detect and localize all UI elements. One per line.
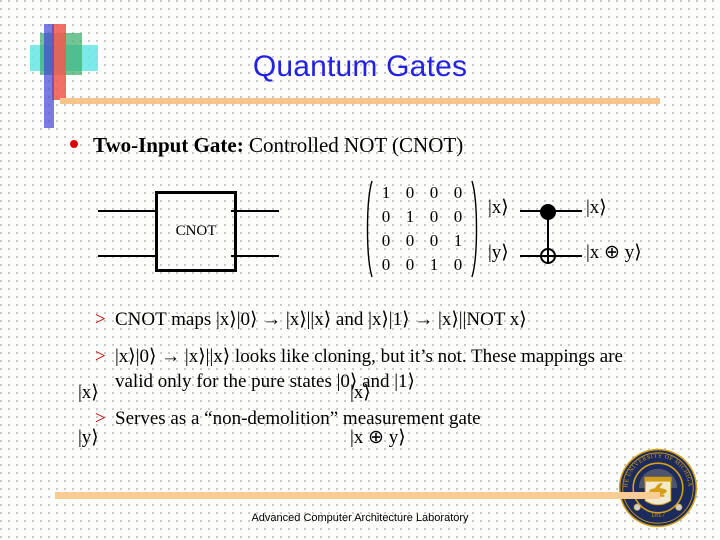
sub-bullet-list: >CNOT maps |x⟩|0⟩ → |x⟩||x⟩ and |x⟩|1⟩ →… bbox=[95, 308, 655, 444]
cnot-symbol-figure: |x⟩ |y⟩ |x⟩ |x ⊕ y⟩ bbox=[480, 179, 660, 285]
sub-bullet-item: >|x⟩|0⟩ → |x⟩||x⟩ looks like cloning, bu… bbox=[95, 345, 655, 394]
matrix-cell: 1 bbox=[454, 231, 463, 251]
symbol-input-bottom-label: |y⟩ bbox=[488, 241, 509, 264]
matrix-cell: 0 bbox=[382, 255, 391, 275]
slide-canvas: Quantum Gates Two-Input Gate: Controlled… bbox=[0, 0, 720, 540]
matrix-left-paren-icon bbox=[363, 179, 373, 279]
control-dot-icon bbox=[540, 204, 556, 220]
symbol-output-top-label: |x⟩ bbox=[586, 196, 607, 219]
matrix-cell: 0 bbox=[454, 207, 463, 227]
symbol-input-top-label: |x⟩ bbox=[488, 196, 509, 219]
wire-output-top bbox=[231, 210, 279, 212]
matrix-cell: 1 bbox=[382, 183, 391, 203]
symbol-output-bottom-label: |x ⊕ y⟩ bbox=[586, 241, 642, 264]
sub-bullet-item: >CNOT maps |x⟩|0⟩ → |x⟩||x⟩ and |x⟩|1⟩ →… bbox=[95, 308, 655, 332]
sub-bullet-marker-icon: > bbox=[95, 345, 115, 394]
wire-input-top bbox=[98, 210, 156, 212]
matrix-cell: 0 bbox=[406, 183, 415, 203]
sub-bullet-marker-icon: > bbox=[95, 407, 115, 431]
footer-divider-rule bbox=[55, 492, 660, 499]
matrix-cell: 0 bbox=[430, 207, 439, 227]
matrix-cell: 0 bbox=[406, 255, 415, 275]
matrix-cell: 0 bbox=[430, 183, 439, 203]
sub-bullet-item: >Serves as a “non-demolition” measuremen… bbox=[95, 407, 655, 431]
matrix-cell: 0 bbox=[406, 231, 415, 251]
bullet-dot-icon bbox=[70, 140, 78, 148]
matrix-grid: 1000010000010010 bbox=[373, 179, 471, 279]
wire-output-bottom bbox=[231, 255, 279, 257]
sub-bullet-text: Serves as a “non-demolition” measurement… bbox=[115, 407, 481, 431]
main-bullet-row: Two-Input Gate: Controlled NOT (CNOT) bbox=[70, 133, 463, 158]
matrix-cell: 1 bbox=[430, 255, 439, 275]
main-bullet-text: Two-Input Gate: Controlled NOT (CNOT) bbox=[93, 133, 463, 158]
matrix-cell: 0 bbox=[382, 231, 391, 251]
matrix-cell: 0 bbox=[454, 255, 463, 275]
footer-text: Advanced Computer Architecture Laborator… bbox=[0, 512, 720, 524]
matrix-cell: 0 bbox=[382, 207, 391, 227]
xor-target-icon bbox=[540, 248, 556, 264]
header-divider-rule bbox=[60, 98, 660, 104]
page-title: Quantum Gates bbox=[0, 50, 720, 84]
matrix-cell: 0 bbox=[454, 183, 463, 203]
main-bullet-bold: Two-Input Gate: bbox=[93, 133, 244, 157]
matrix-cell: 1 bbox=[406, 207, 415, 227]
sub-bullet-marker-icon: > bbox=[95, 308, 115, 332]
sub-bullet-text: |x⟩|0⟩ → |x⟩||x⟩ looks like cloning, but… bbox=[115, 345, 655, 394]
main-bullet-rest: Controlled NOT (CNOT) bbox=[244, 133, 464, 157]
wire-input-bottom bbox=[98, 255, 156, 257]
cnot-matrix: 1000010000010010 bbox=[363, 179, 481, 279]
cnot-gate-box: CNOT bbox=[155, 191, 237, 272]
sub-bullet-text: CNOT maps |x⟩|0⟩ → |x⟩||x⟩ and |x⟩|1⟩ → … bbox=[115, 308, 527, 332]
matrix-cell: 0 bbox=[430, 231, 439, 251]
